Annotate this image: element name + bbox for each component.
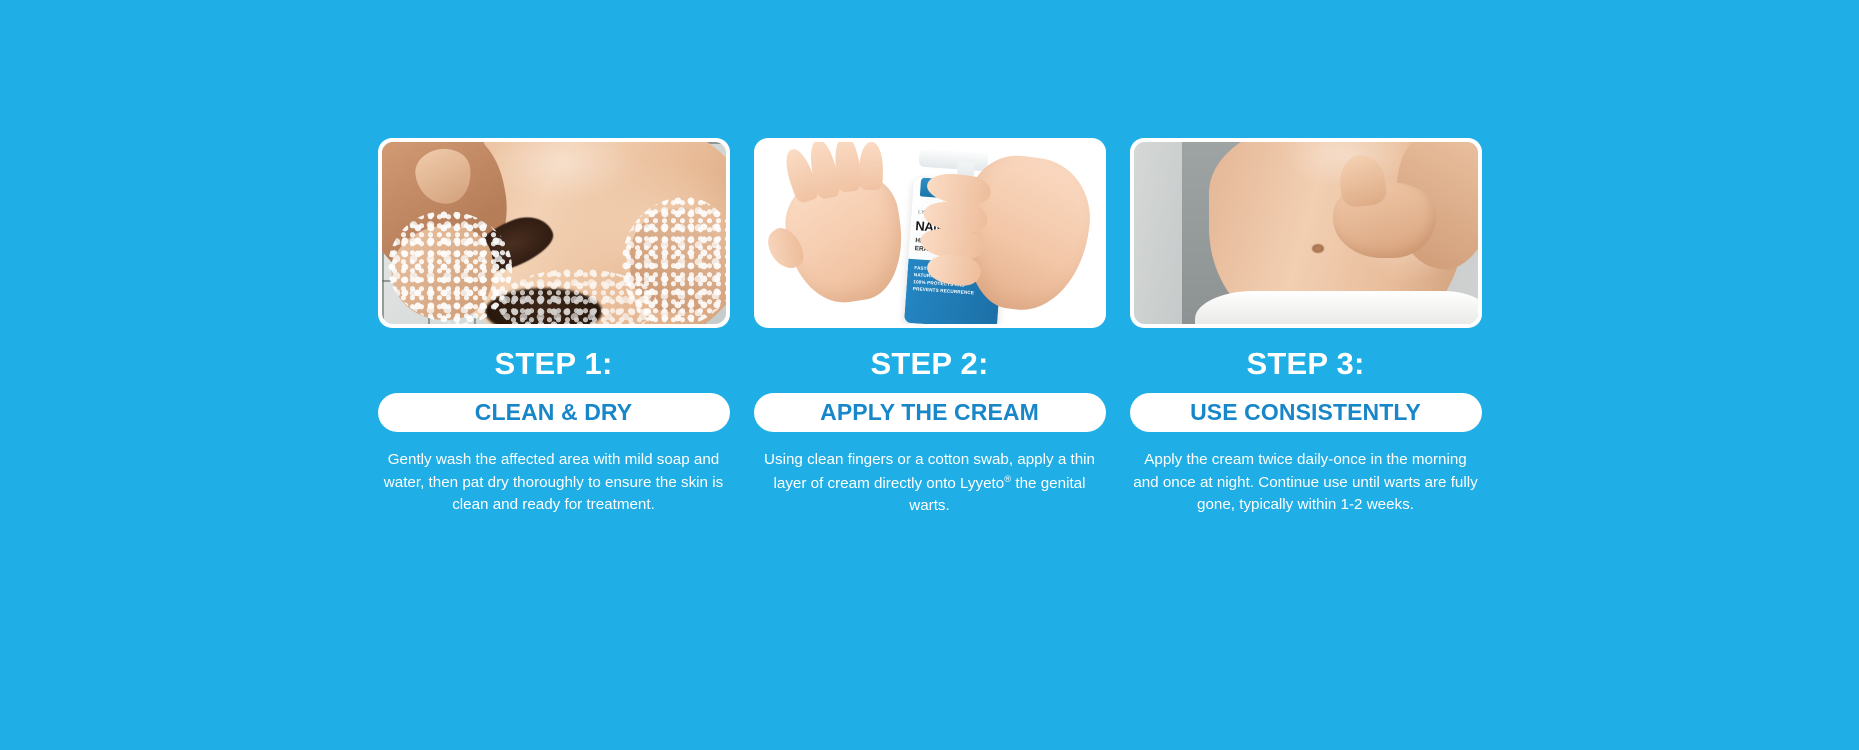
finger-4 <box>859 142 884 190</box>
step-2-body: Using clean fingers or a cotton swab, ap… <box>754 449 1106 518</box>
step-3-badge[interactable]: USE CONSISTENTLY <box>1130 393 1482 432</box>
step-3-photo-frame <box>1130 138 1482 328</box>
step-3-title: STEP 3: <box>1247 348 1365 379</box>
step-card-1: STEP 1: CLEAN & DRY Gently wash the affe… <box>378 138 730 517</box>
step-card-3: STEP 3: USE CONSISTENTLY Apply the cream… <box>1130 138 1482 517</box>
step-1-photo-frame <box>378 138 730 328</box>
step-2-badge[interactable]: APPLY THE CREAM <box>754 393 1106 432</box>
steps-row: STEP 1: CLEAN & DRY Gently wash the affe… <box>0 138 1859 518</box>
washing-torso-photo <box>382 142 726 324</box>
pump-head <box>919 149 989 172</box>
step-1-body: Gently wash the affected area with mild … <box>378 449 730 517</box>
step-3-body: Apply the cream twice daily-once in the … <box>1130 449 1482 517</box>
page-root: { "theme": { "background": "#1FAEE5", "p… <box>0 0 1859 750</box>
step-card-2: LYYETO® NANOLIPO HPV GENITAL WART ERASER… <box>754 138 1106 518</box>
step-2-title: STEP 2: <box>871 348 989 379</box>
hands-with-bottle-photo: LYYETO® NANOLIPO HPV GENITAL WART ERASER… <box>758 142 1102 324</box>
white-towel-shape <box>1195 291 1477 324</box>
palm-thumb <box>761 223 811 275</box>
step-1-title: STEP 1: <box>495 348 613 379</box>
step-2-photo-frame: LYYETO® NANOLIPO HPV GENITAL WART ERASER… <box>754 138 1106 328</box>
navel-shape <box>1312 244 1324 253</box>
open-palm-shape <box>779 167 911 311</box>
step-1-badge[interactable]: CLEAN & DRY <box>378 393 730 432</box>
thumbs-up-torso-photo <box>1134 142 1478 324</box>
